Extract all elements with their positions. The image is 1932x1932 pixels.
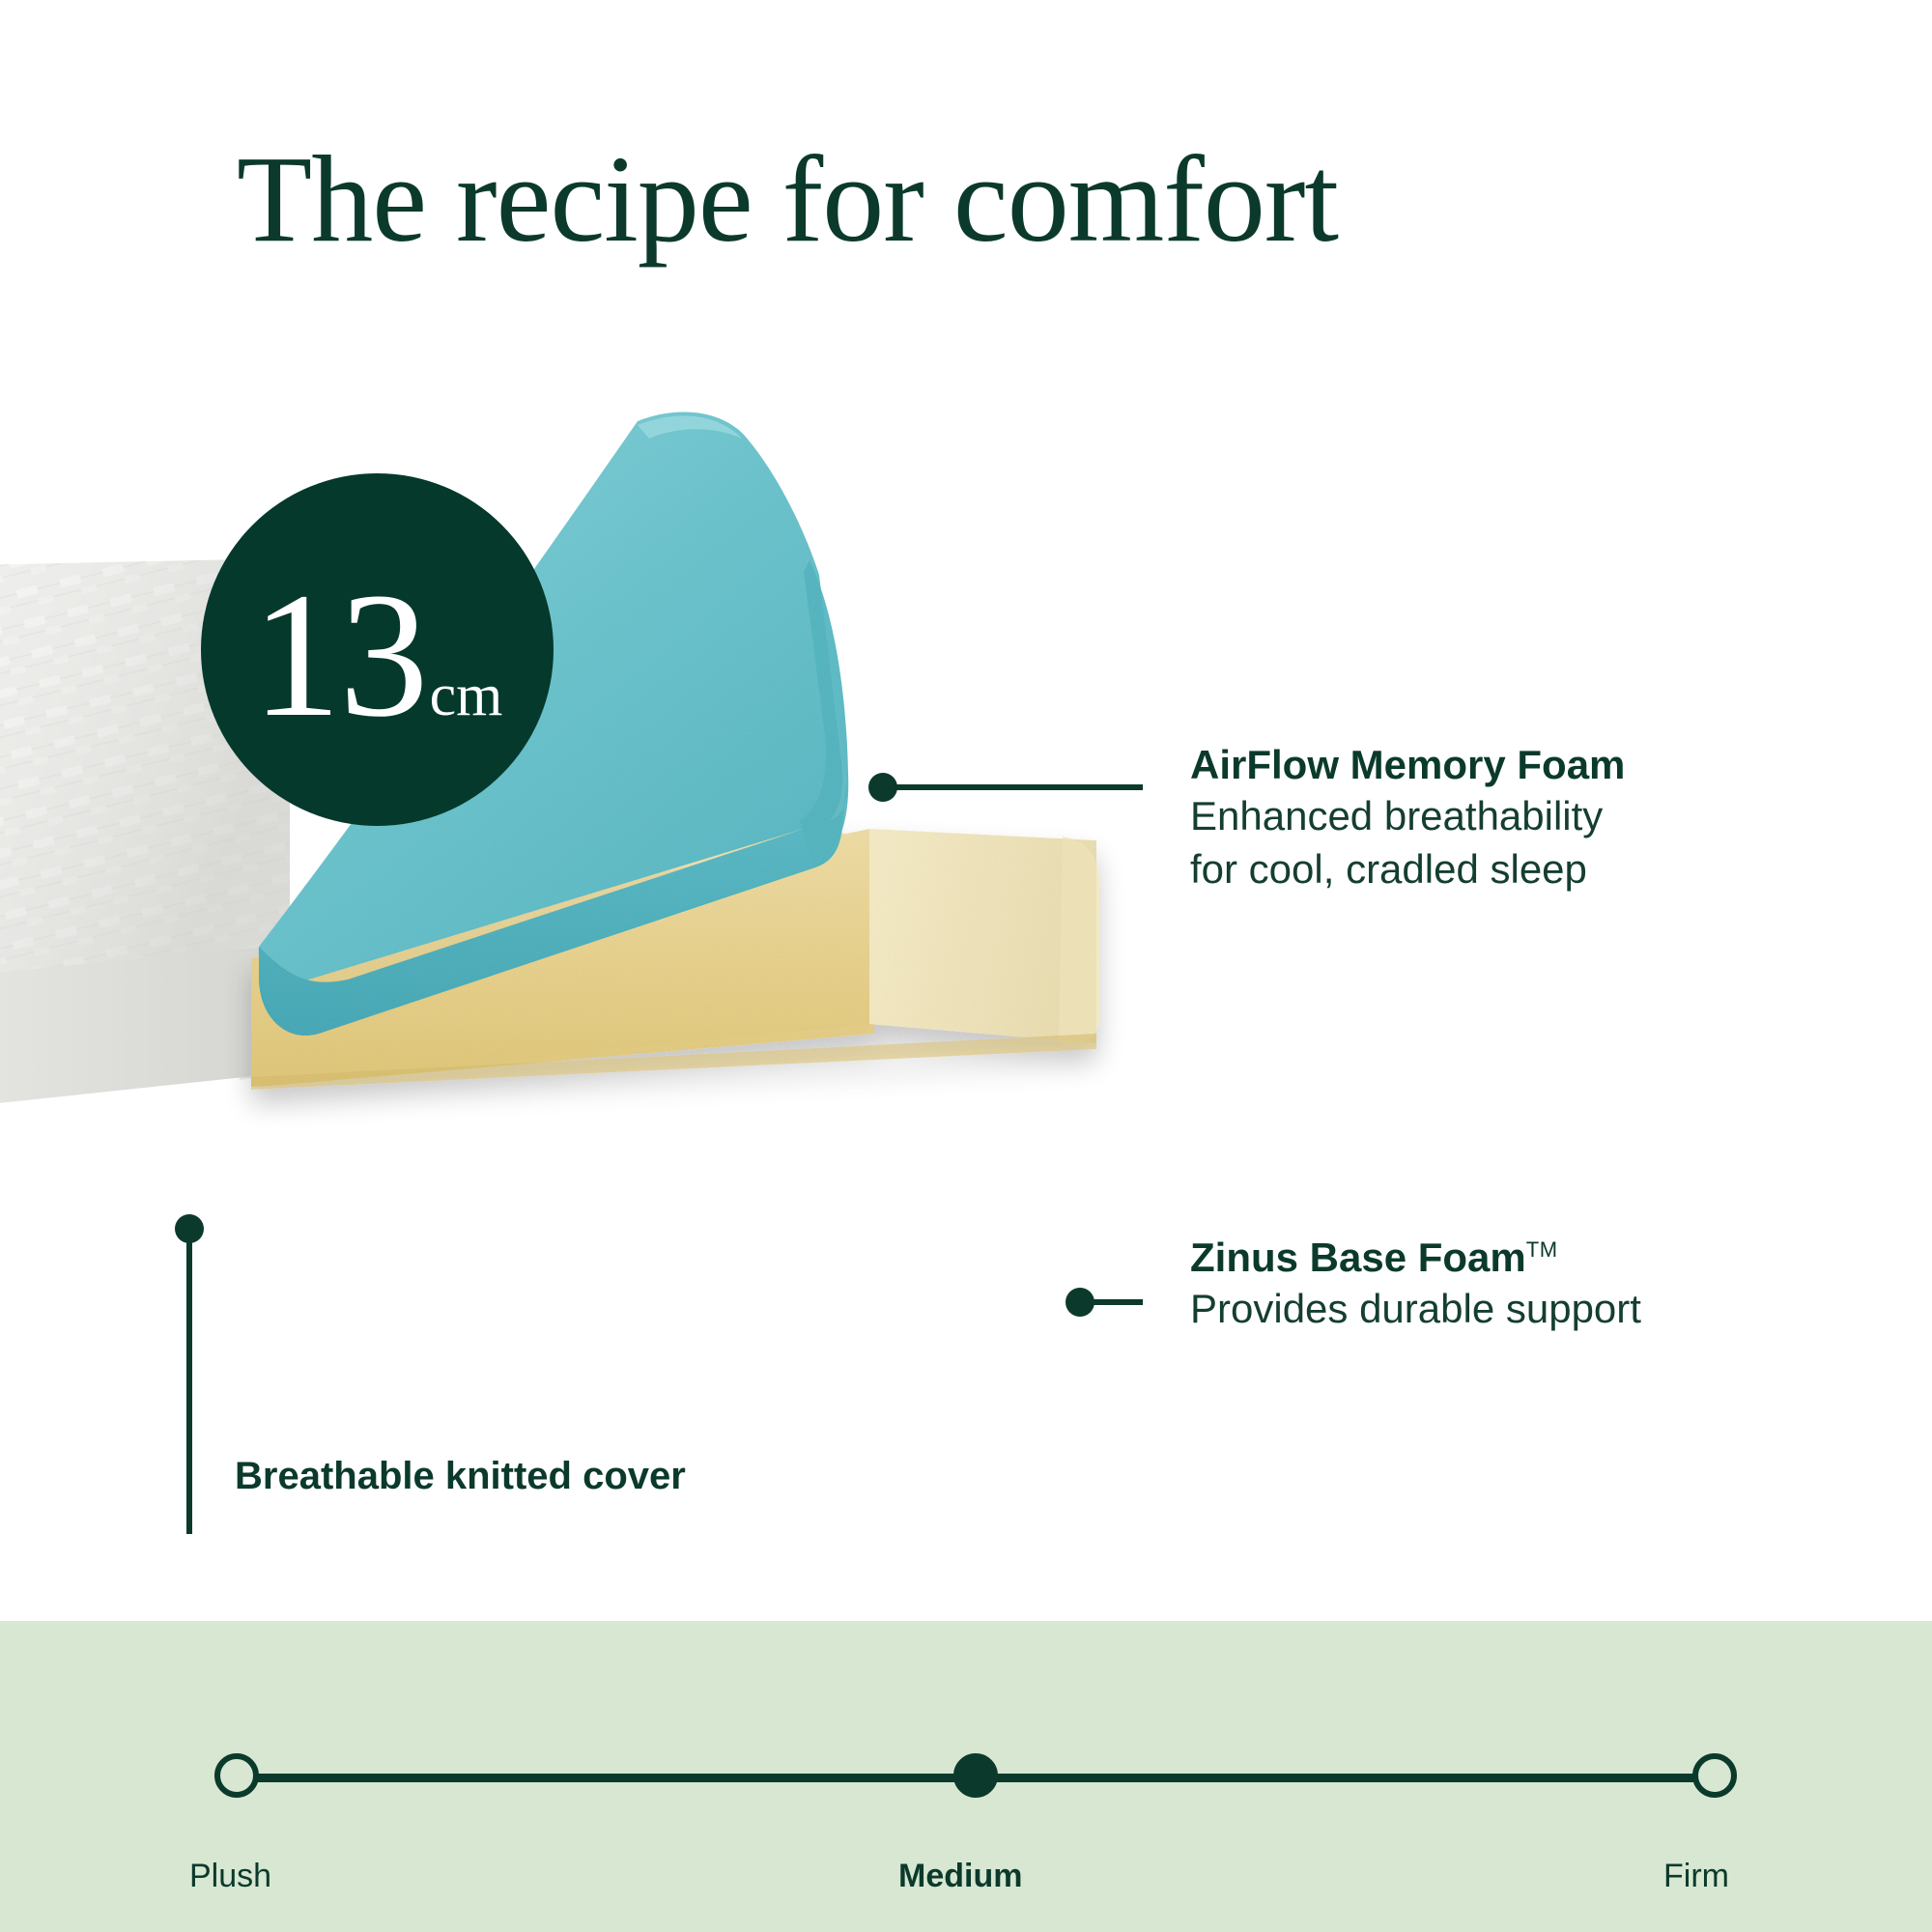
mattress-illustration: [0, 367, 1256, 1555]
firmness-label-plush: Plush: [189, 1858, 271, 1895]
firmness-label-firm: Firm: [1663, 1858, 1729, 1895]
callout-title: Breathable knitted cover: [235, 1455, 686, 1498]
callout-title-text: Zinus Base Foam: [1190, 1235, 1526, 1280]
callout-airflow-memory-foam: AirFlow Memory Foam Enhanced breathabili…: [1190, 742, 1625, 895]
firmness-track[interactable]: [237, 1774, 1715, 1777]
callout-body-line-2: for cool, cradled sleep: [1190, 844, 1625, 894]
callout-body-line-1: Provides durable support: [1190, 1284, 1641, 1333]
firmness-scale-band: Plush Medium Firm: [0, 1621, 1932, 1932]
firmness-label-medium: Medium: [898, 1858, 1022, 1895]
thickness-badge: 13 cm: [201, 473, 554, 826]
thickness-unit: cm: [430, 666, 503, 725]
infographic-canvas: The recipe for comfort: [0, 0, 1932, 1932]
callout-body-line-1: Enhanced breathability: [1190, 791, 1625, 840]
callout-title: Zinus Base FoamTM: [1190, 1235, 1641, 1280]
thickness-value: 13: [252, 582, 427, 729]
page-title: The recipe for comfort: [237, 137, 1338, 261]
callout-zinus-base-foam: Zinus Base FoamTM Provides durable suppo…: [1190, 1235, 1641, 1333]
firmness-node-plush[interactable]: [214, 1753, 259, 1798]
callout-title: AirFlow Memory Foam: [1190, 742, 1625, 787]
firmness-node-firm[interactable]: [1692, 1753, 1737, 1798]
callout-breathable-knitted-cover: Breathable knitted cover: [235, 1455, 686, 1498]
firmness-node-medium[interactable]: [953, 1753, 998, 1798]
trademark-symbol: TM: [1526, 1237, 1558, 1262]
